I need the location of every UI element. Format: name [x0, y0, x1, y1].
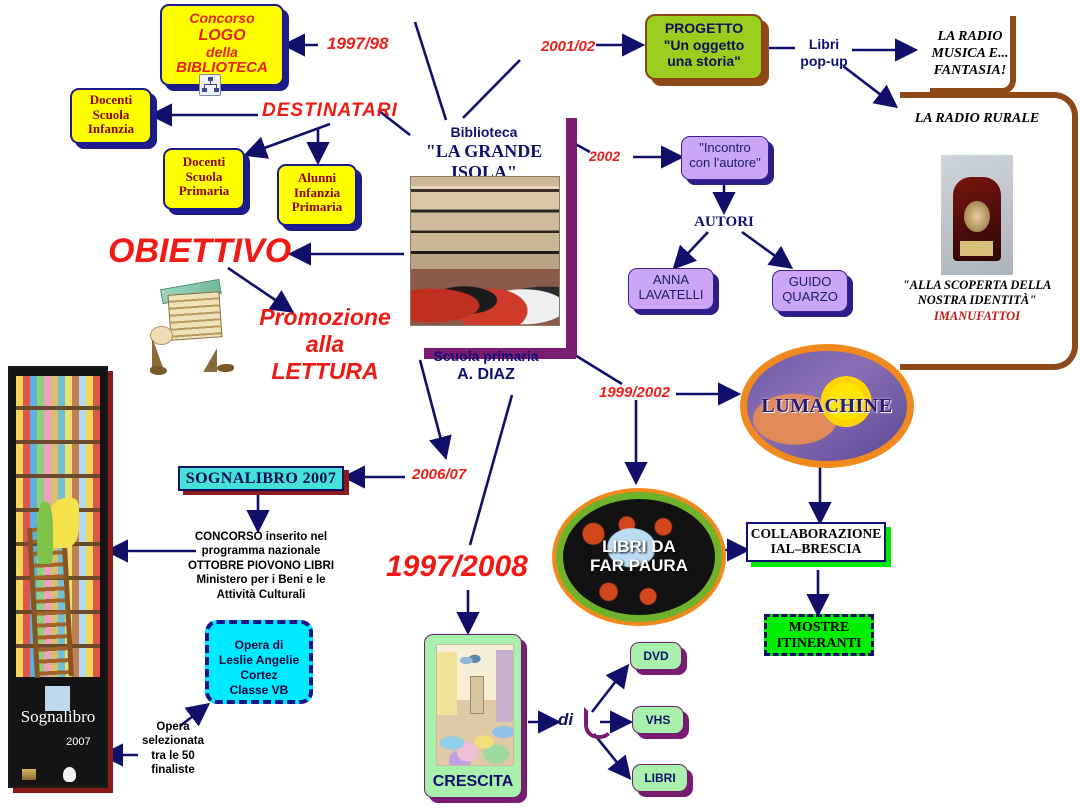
crescita-wall-left — [437, 652, 457, 714]
label-concorso-nazionale: CONCORSO inserito nel programma nazional… — [178, 530, 344, 602]
runner-shoe-left — [150, 366, 167, 375]
opera-di-line4: Classe VB — [209, 683, 309, 698]
node-docenti-scuola-primaria[interactable]: Docenti Scuola Primaria — [163, 148, 245, 210]
radio-dial — [964, 201, 990, 232]
label-destinatari: DESTINATARI — [262, 100, 398, 122]
year-2001-02: 2001/02 — [541, 38, 595, 55]
node-dvd[interactable]: DVD — [630, 642, 682, 670]
node-docenti-scuola-infanzia[interactable]: Docenti Scuola Infanzia — [70, 88, 152, 144]
running-with-books-illustration — [142, 280, 246, 376]
docenti-infanzia-line3: Infanzia — [72, 122, 150, 137]
docenti-primaria-line2: Scuola — [165, 170, 243, 185]
concept-map-canvas: Concorso LOGO della BIBLIOTECA 1997/98 D… — [0, 0, 1080, 808]
concorso-line2: LOGO — [162, 27, 282, 45]
label-di: di — [558, 710, 606, 736]
scoperta-line3: IMANUFATTOI — [892, 309, 1062, 324]
label-la-radio-musica-fantasia: LA RADIO MUSICA E... FANTASIA! — [912, 28, 1028, 79]
radio-musica-line3: FANTASIA! — [912, 62, 1028, 79]
collab-line1: COLLABORAZIONE — [748, 527, 884, 542]
poster-bulb — [63, 767, 76, 782]
radio-musica-line1: LA RADIO — [912, 28, 1028, 45]
node-mostre-itineranti[interactable]: MOSTRE ITINERANTI — [764, 614, 874, 656]
node-libri-da-far-paura[interactable]: LIBRI DA FAR PAURA — [556, 492, 722, 622]
node-concorso-logo[interactable]: Concorso LOGO della BIBLIOTECA — [160, 4, 284, 86]
node-alunni-infanzia-primaria[interactable]: Alunni Infanzia Primaria — [277, 164, 357, 226]
docenti-primaria-line1: Docenti — [165, 155, 243, 170]
node-sognalibro-2007[interactable]: SOGNALIBRO 2007 — [178, 466, 344, 491]
promozione-line3: LETTURA — [240, 358, 410, 385]
opera-di-line3: Cortez — [209, 668, 309, 683]
libri-paura-label: LIBRI DA FAR PAURA — [590, 538, 688, 575]
guido-line2: QUARZO — [773, 290, 847, 305]
label-autori: AUTORI — [692, 214, 756, 231]
crescita-flying-objects — [460, 652, 481, 669]
book-stack — [167, 292, 222, 342]
docenti-infanzia-line2: Scuola — [72, 108, 150, 123]
alunni-line1: Alunni — [279, 171, 355, 186]
scuola-line2: A. DIAZ — [412, 365, 560, 384]
node-crescita[interactable]: CRESCITA — [424, 634, 522, 798]
docenti-infanzia-line1: Docenti — [72, 93, 150, 108]
opera-sel-line4: finaliste — [132, 763, 214, 777]
year-1999-2002: 1999/2002 — [599, 384, 670, 401]
label-la-radio-rurale: LA RADIO RURALE — [902, 110, 1052, 127]
crescita-door — [470, 676, 483, 714]
opera-sel-line3: tra le 50 — [132, 749, 214, 763]
scoperta-line2: NOSTRA IDENTITÀ" — [892, 293, 1062, 308]
crescita-label: CRESCITA — [425, 773, 521, 791]
incontro-line2: con l'autore" — [682, 156, 768, 171]
libri-paura-line2: FAR PAURA — [590, 556, 688, 575]
lumachine-label: LUMACHINE — [761, 395, 892, 418]
node-libri[interactable]: LIBRI — [632, 764, 688, 792]
di-text: di — [558, 710, 573, 729]
org-chart-icon[interactable] — [199, 74, 221, 96]
promozione-line1: Promozione — [240, 304, 410, 331]
incontro-line1: "Incontro — [682, 141, 768, 156]
progetto-line2: "Un oggetto — [647, 37, 761, 54]
concorso-naz-line5: Attività Culturali — [178, 588, 344, 602]
collab-line2: IAL–BRESCIA — [748, 542, 884, 557]
libri-paura-line1: LIBRI DA — [602, 537, 676, 556]
alunni-line3: Primaria — [279, 200, 355, 215]
anna-line1: ANNA — [629, 273, 713, 288]
opera-sel-line2: selezionata — [132, 734, 214, 748]
library-photo — [410, 176, 560, 326]
year-2006-07: 2006/07 — [412, 466, 466, 483]
label-biblioteca-title: Biblioteca "LA GRANDE ISOLA" — [400, 124, 568, 184]
concorso-line4: BIBLIOTECA — [162, 60, 282, 77]
scuola-line1: Scuola primaria — [412, 348, 560, 365]
node-vhs[interactable]: VHS — [632, 706, 684, 734]
guido-line1: GUIDO — [773, 275, 847, 290]
label-libri-pop-up: Libri pop-up — [795, 36, 853, 70]
alunni-line2: Infanzia — [279, 186, 355, 201]
concorso-line3: della — [162, 45, 282, 61]
year-2002: 2002 — [589, 148, 620, 164]
mostre-line2: ITINERANTI — [767, 636, 871, 652]
concorso-naz-line1: CONCORSO inserito nel — [178, 530, 344, 544]
label-1997-2008: 1997/2008 — [386, 550, 528, 584]
di-swoosh — [584, 707, 614, 739]
poster-year: 2007 — [66, 736, 90, 748]
node-anna-lavatelli[interactable]: ANNA LAVATELLI — [628, 268, 714, 310]
node-progetto-un-oggetto-una-storia[interactable]: PROGETTO "Un oggetto una storia" — [645, 14, 763, 80]
node-collaborazione-ial-brescia[interactable]: COLLABORAZIONE IAL–BRESCIA — [746, 522, 886, 562]
progetto-line1: PROGETTO — [647, 20, 761, 37]
runner-shoe-right — [217, 364, 234, 373]
concorso-naz-line2: programma nazionale — [178, 544, 344, 558]
opera-di-line2: Leslie Angelie — [209, 653, 309, 668]
progetto-line3: una storia" — [647, 53, 761, 70]
scoperta-line1: "ALLA SCOPERTA DELLA — [892, 278, 1062, 293]
poster-title: Sognalibro — [10, 707, 106, 727]
sognalibro-poster-image[interactable]: Sognalibro 2007 — [8, 366, 108, 788]
year-1997-98: 1997/98 — [327, 34, 388, 54]
libri-popup-line2: pop-up — [795, 53, 853, 70]
promozione-line2: alla — [240, 331, 410, 358]
docenti-primaria-line3: Primaria — [165, 184, 243, 199]
mostre-line1: MOSTRE — [767, 620, 871, 636]
biblioteca-line1: Biblioteca — [400, 124, 568, 141]
crescita-scattered-books — [437, 710, 513, 765]
children-in-photo — [411, 260, 559, 325]
node-incontro-con-lautore[interactable]: "Incontro con l'autore" — [681, 136, 769, 180]
node-lumachine[interactable]: LUMACHINE — [740, 344, 914, 468]
concorso-naz-line3: OTTOBRE PIOVONO LIBRI — [178, 559, 344, 573]
opera-sel-line1: Opera — [132, 720, 214, 734]
radio-plate — [960, 241, 993, 255]
radio-artifact-photo — [941, 155, 1013, 275]
opera-di-line1: Opera di — [209, 638, 309, 653]
label-alla-scoperta-identita: "ALLA SCOPERTA DELLA NOSTRA IDENTITÀ" IM… — [892, 278, 1062, 324]
label-obiettivo: OBIETTIVO — [108, 232, 291, 271]
poster-stamp — [22, 769, 36, 780]
biblioteca-line2: "LA GRANDE — [400, 141, 568, 163]
crescita-illustration — [436, 644, 514, 766]
label-promozione-alla-lettura: Promozione alla LETTURA — [240, 304, 410, 385]
concorso-naz-line4: Ministero per i Beni e le — [178, 573, 344, 587]
node-guido-quarzo[interactable]: GUIDO QUARZO — [772, 270, 848, 312]
label-opera-selezionata: Opera selezionata tra le 50 finaliste — [132, 720, 214, 778]
radio-musica-line2: MUSICA E... — [912, 45, 1028, 62]
concorso-line1: Concorso — [162, 11, 282, 27]
anna-line2: LAVATELLI — [629, 288, 713, 303]
label-scuola-primaria: Scuola primaria A. DIAZ — [412, 348, 560, 384]
node-opera-di-leslie-angelie-cortez[interactable]: Opera di Leslie Angelie Cortez Classe VB — [205, 620, 313, 704]
libri-popup-line1: Libri — [795, 36, 853, 53]
poster-child — [37, 502, 53, 565]
